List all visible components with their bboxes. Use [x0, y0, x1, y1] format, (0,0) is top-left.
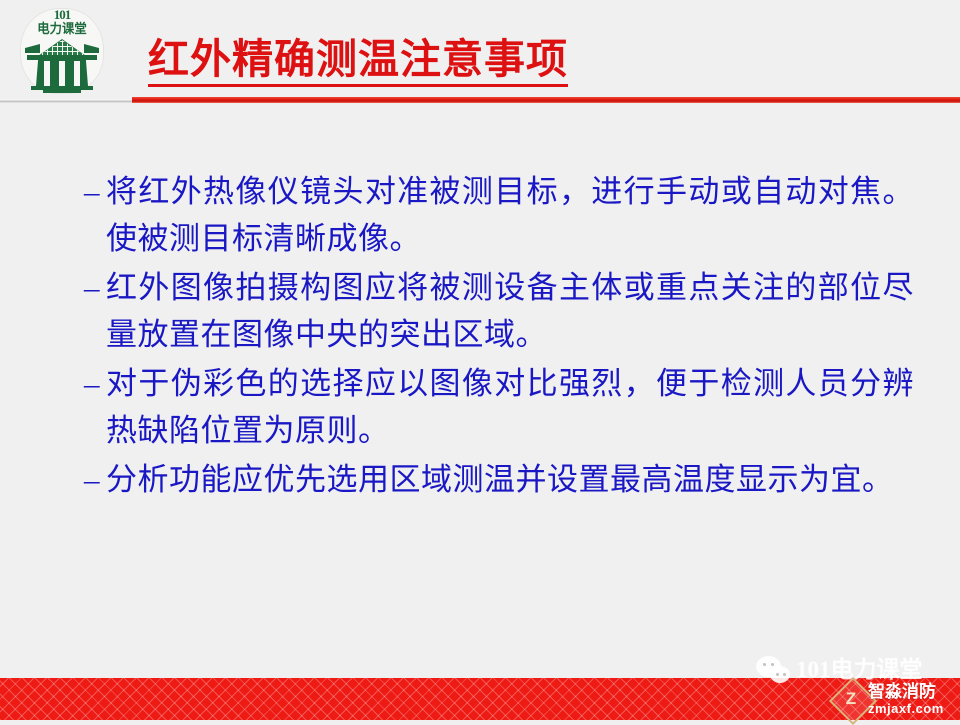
header-divider-red: [132, 97, 960, 103]
list-item: – 将红外热像仪镜头对准被测目标，进行手动或自动对焦。使被测目标清晰成像。: [84, 168, 914, 262]
bullet-text: 分析功能应优先选用区域测温并设置最高温度显示为宜。: [106, 456, 914, 503]
list-item: – 分析功能应优先选用区域测温并设置最高温度显示为宜。: [84, 456, 914, 503]
wechat-dot: [776, 673, 779, 676]
brand-url-text: zmjaxf.com: [868, 701, 944, 716]
list-item: – 红外图像拍摄构图应将被测设备主体或重点关注的部位尽量放置在图像中央的突出区域…: [84, 264, 914, 358]
gate-column: [74, 61, 80, 86]
bullet-text: 对于伪彩色的选择应以图像对比强烈，便于检测人员分辨热缺陷位置为原则。: [106, 360, 914, 454]
brand-mark-letter: Z: [843, 691, 859, 707]
footer-red-band: [0, 678, 960, 720]
gate-column: [44, 61, 50, 86]
bullet-list: – 将红外热像仪镜头对准被测目标，进行手动或自动对焦。使被测目标清晰成像。 – …: [84, 168, 914, 505]
roof-wing-right: [84, 44, 99, 53]
logo-name-text: 电力课堂: [18, 22, 105, 36]
slide-header: 101 电力课堂 红外精确测温注意事项: [0, 0, 960, 104]
bullet-marker: –: [84, 264, 106, 311]
brand-watermark: Z 智淼消防 zmjaxf.com: [836, 682, 960, 718]
roof-eave: [27, 55, 97, 60]
wechat-icon: [756, 656, 781, 677]
wechat-dot: [763, 663, 766, 666]
bullet-text: 红外图像拍摄构图应将被测设备主体或重点关注的部位尽量放置在图像中央的突出区域。: [106, 264, 914, 358]
roof-wing-left: [25, 44, 40, 53]
wechat-dot: [771, 663, 774, 666]
page-title: 红外精确测温注意事项: [148, 36, 568, 87]
bullet-text: 将红外热像仪镜头对准被测目标，进行手动或自动对焦。使被测目标清晰成像。: [106, 168, 914, 262]
bullet-marker: –: [84, 360, 106, 407]
temple-gate-icon: [25, 39, 99, 93]
header-divider-gray: [0, 99, 134, 103]
brand-name-text: 智淼消防: [868, 682, 936, 701]
logo-number-text: 101: [16, 9, 108, 21]
wechat-dot: [783, 673, 786, 676]
bullet-marker: –: [84, 456, 106, 503]
gate-column: [59, 61, 65, 86]
gate-step: [43, 90, 81, 93]
roof-tile-grid: [38, 40, 86, 56]
list-item: – 对于伪彩色的选择应以图像对比强烈，便于检测人员分辨热缺陷位置为原则。: [84, 360, 914, 454]
slide-canvas: 101 电力课堂 红外精确测温注意事项 – 将红外热像仪镜头对准: [0, 0, 960, 720]
bullet-marker: –: [84, 168, 106, 215]
organization-logo: 101 电力课堂: [16, 6, 108, 96]
